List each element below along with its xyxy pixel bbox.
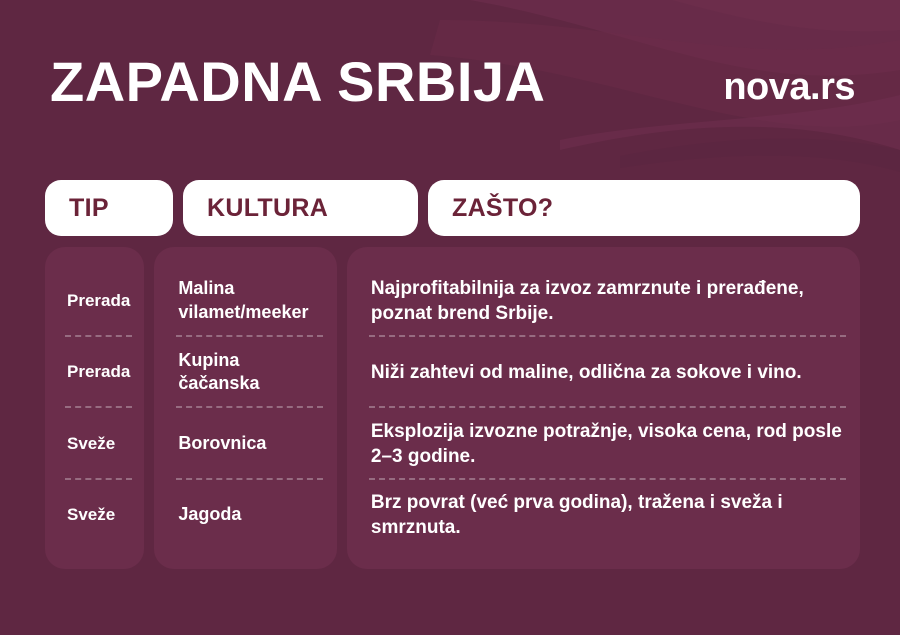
- table-row: Malina vilamet/meeker: [154, 265, 336, 337]
- brand-logo: nova.rs: [723, 68, 855, 106]
- cell-zasto: Eksplozija izvozne potražnje, visoka cen…: [371, 419, 844, 469]
- cell-zasto: Najprofitabilnija za izvoz zamrznute i p…: [371, 276, 844, 326]
- column-header-kultura-label: KULTURA: [207, 194, 328, 223]
- cell-kultura: Kupina čačanska: [178, 349, 320, 397]
- table-header-row: TIP KULTURA ZAŠTO?: [45, 180, 860, 236]
- table-row: Niži zahtevi od maline, odlična za sokov…: [347, 337, 860, 409]
- table-row: Sveže: [45, 480, 144, 552]
- cell-kultura: Malina vilamet/meeker: [178, 277, 320, 325]
- cell-tip: Prerada: [67, 290, 130, 312]
- infographic-canvas: ZAPADNA SRBIJA nova.rs TIP KULTURA ZAŠTO…: [0, 0, 900, 635]
- table-body: Prerada Prerada Sveže Sveže Malina vilam…: [45, 247, 860, 569]
- column-header-tip: TIP: [45, 180, 173, 236]
- table-row: Sveže: [45, 408, 144, 480]
- cell-kultura: Jagoda: [178, 503, 241, 527]
- cell-tip: Sveže: [67, 504, 115, 526]
- column-header-tip-label: TIP: [69, 194, 109, 223]
- comparison-table: TIP KULTURA ZAŠTO? Prerada Prerada Sveže: [45, 180, 860, 569]
- cell-tip: Sveže: [67, 433, 115, 455]
- column-header-kultura: KULTURA: [183, 180, 418, 236]
- cell-zasto: Niži zahtevi od maline, odlična za sokov…: [371, 360, 802, 385]
- table-row: Brz povrat (već prva godina), tražena i …: [347, 480, 860, 552]
- column-header-zasto: ZAŠTO?: [428, 180, 860, 236]
- column-card-tip: Prerada Prerada Sveže Sveže: [45, 247, 144, 569]
- table-row: Jagoda: [154, 480, 336, 552]
- table-row: Prerada: [45, 265, 144, 337]
- table-row: Borovnica: [154, 408, 336, 480]
- table-row: Eksplozija izvozne potražnje, visoka cen…: [347, 408, 860, 480]
- cell-tip: Prerada: [67, 361, 130, 383]
- cell-kultura: Borovnica: [178, 432, 266, 456]
- column-card-kultura: Malina vilamet/meeker Kupina čačanska Bo…: [154, 247, 336, 569]
- table-row: Prerada: [45, 337, 144, 409]
- cell-zasto: Brz povrat (već prva godina), tražena i …: [371, 490, 844, 540]
- table-row: Najprofitabilnija za izvoz zamrznute i p…: [347, 265, 860, 337]
- table-row: Kupina čačanska: [154, 337, 336, 409]
- page-title: ZAPADNA SRBIJA: [50, 54, 545, 110]
- column-header-zasto-label: ZAŠTO?: [452, 194, 553, 223]
- column-card-zasto: Najprofitabilnija za izvoz zamrznute i p…: [347, 247, 860, 569]
